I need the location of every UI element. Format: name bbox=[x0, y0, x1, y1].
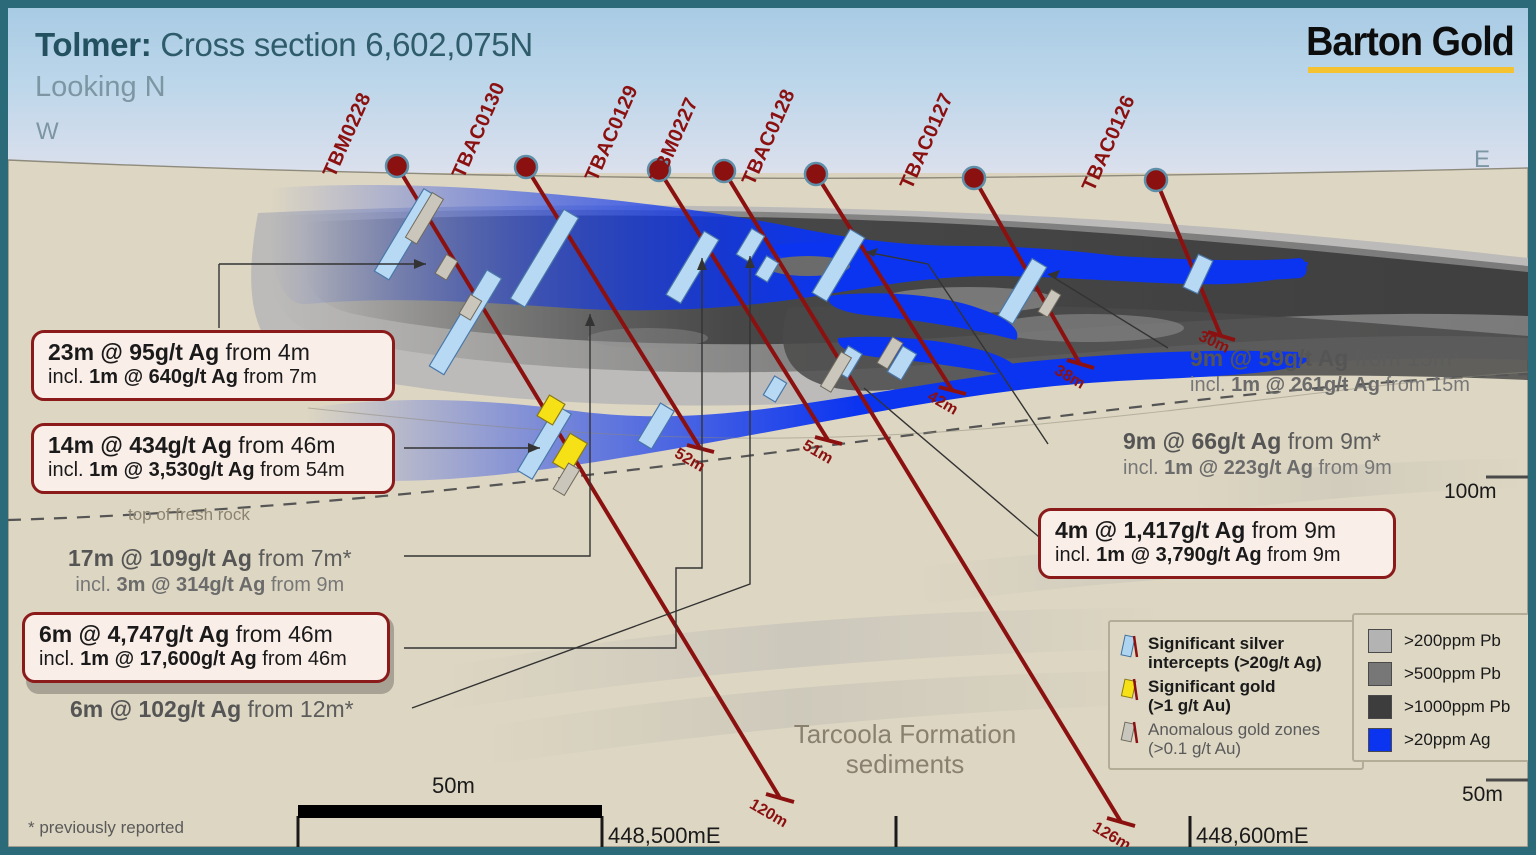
callout-line2: incl. 1m @ 17,600g/t Ag from 46m bbox=[39, 648, 373, 672]
page-title: Tolmer: Cross section 6,602,075N bbox=[35, 26, 533, 64]
brand-text: Barton Gold bbox=[1306, 18, 1514, 65]
callout-6m-102: 6m @ 102g/t Ag from 12m* bbox=[70, 696, 354, 724]
pb-blob-3 bbox=[992, 314, 1184, 342]
depth-label-50m: 50m bbox=[1462, 783, 1503, 807]
callout-14m: 14m @ 434g/t Ag from 46m incl. 1m @ 3,53… bbox=[31, 423, 395, 494]
cross-section-figure: Tolmer: Cross section 6,602,075N Looking… bbox=[0, 0, 1536, 855]
formation-line2: sediments bbox=[775, 750, 1035, 780]
swatch-pb500-icon bbox=[1368, 662, 1392, 686]
callout-4m-1417: 4m @ 1,417g/t Ag from 9m incl. 1m @ 3,79… bbox=[1038, 508, 1396, 579]
callout-line1: 14m @ 434g/t Ag from 46m bbox=[48, 432, 378, 459]
callout-line1: 6m @ 4,747g/t Ag from 46m bbox=[39, 621, 373, 648]
legend-row-pb500: >500ppm Pb bbox=[1368, 662, 1520, 686]
legend-item-anomalous: Anomalous gold zones(>0.1 g/t Au) bbox=[1120, 720, 1352, 758]
callout-line2: incl. 1m @ 3,530g/t Ag from 54m bbox=[48, 459, 378, 483]
legend-intercepts: Significant silverintercepts (>20g/t Ag)… bbox=[1108, 620, 1364, 770]
callout-line2: incl. 3m @ 314g/t Ag from 9m bbox=[68, 573, 352, 597]
coordinate-label-448500: 448,500mE bbox=[608, 823, 721, 847]
silver-intercept-icon bbox=[1120, 634, 1140, 660]
callout-line2: incl. 1m @ 261g/t Ag from 15m bbox=[1190, 373, 1470, 397]
callout-line1: 9m @ 66g/t Ag from 9m* bbox=[1123, 428, 1392, 456]
formation-line1: Tarcoola Formation bbox=[775, 720, 1035, 750]
anomalous-gold-icon bbox=[1120, 720, 1140, 746]
footnote: * previously reported bbox=[28, 818, 184, 838]
compass-east-label: E bbox=[1474, 146, 1490, 174]
callout-line1: 23m @ 95g/t Ag from 4m bbox=[48, 339, 378, 366]
swatch-pb1000-icon bbox=[1368, 695, 1392, 719]
callout-6m-4747: 6m @ 4,747g/t Ag from 46m incl. 1m @ 17,… bbox=[22, 612, 390, 683]
legend-gold-text: Significant gold(>1 g/t Au) bbox=[1148, 677, 1276, 715]
legend-row-pb200: >200ppm Pb bbox=[1368, 629, 1520, 653]
callout-line2: incl. 1m @ 223g/t Ag from 9m bbox=[1123, 456, 1392, 480]
legend-item-gold: Significant gold(>1 g/t Au) bbox=[1120, 677, 1352, 715]
legend-label-pb500: >500ppm Pb bbox=[1404, 664, 1501, 684]
depth-label-100m: 100m bbox=[1444, 480, 1497, 504]
brand-underline bbox=[1308, 67, 1514, 73]
callout-line2: incl. 1m @ 3,790g/t Ag from 9m bbox=[1055, 544, 1379, 568]
callout-line1: 4m @ 1,417g/t Ag from 9m bbox=[1055, 517, 1379, 544]
formation-label: Tarcoola Formation sediments bbox=[775, 720, 1035, 780]
legend-label-ag20: >20ppm Ag bbox=[1404, 730, 1491, 750]
callout-line1: 17m @ 109g/t Ag from 7m* bbox=[68, 545, 352, 573]
top-of-fresh-rock-label: top of fresh rock bbox=[128, 505, 250, 525]
callout-9m-66: 9m @ 66g/t Ag from 9m* incl. 1m @ 223g/t… bbox=[1123, 428, 1392, 480]
legend-silver-text: Significant silverintercepts (>20g/t Ag) bbox=[1148, 634, 1322, 672]
callout-9m-59: 9m @ 59g/t Ag from 15m* incl. 1m @ 261g/… bbox=[1190, 345, 1470, 397]
legend-geochem: >200ppm Pb >500ppm Pb >1000ppm Pb >20ppm… bbox=[1352, 613, 1528, 762]
legend-label-pb200: >200ppm Pb bbox=[1404, 631, 1501, 651]
gold-intercept-icon bbox=[1120, 677, 1140, 703]
brand-logo: Barton Gold bbox=[1288, 18, 1514, 73]
legend-row-pb1000: >1000ppm Pb bbox=[1368, 695, 1520, 719]
compass-west-label: W bbox=[36, 118, 59, 146]
callout-line1: 9m @ 59g/t Ag from 15m* bbox=[1190, 345, 1470, 373]
swatch-pb200-icon bbox=[1368, 629, 1392, 653]
legend-row-ag20: >20ppm Ag bbox=[1368, 728, 1520, 752]
legend-label-pb1000: >1000ppm Pb bbox=[1404, 697, 1510, 717]
callout-23m: 23m @ 95g/t Ag from 4m incl. 1m @ 640g/t… bbox=[31, 330, 395, 401]
figure-canvas: Tolmer: Cross section 6,602,075N Looking… bbox=[8, 8, 1528, 847]
scale-bar bbox=[298, 805, 602, 818]
legend-anomalous-text: Anomalous gold zones(>0.1 g/t Au) bbox=[1148, 720, 1320, 758]
legend-item-silver: Significant silverintercepts (>20g/t Ag) bbox=[1120, 634, 1352, 672]
callout-17m: 17m @ 109g/t Ag from 7m* incl. 3m @ 314g… bbox=[68, 545, 352, 597]
callout-line1: 6m @ 102g/t Ag from 12m* bbox=[70, 696, 354, 724]
coordinate-label-448600: 448,600mE bbox=[1196, 823, 1309, 847]
subtitle: Looking N bbox=[35, 71, 166, 104]
pb-blob-4 bbox=[588, 328, 708, 348]
swatch-ag20-icon bbox=[1368, 728, 1392, 752]
scale-bar-label: 50m bbox=[432, 773, 475, 799]
callout-line2: incl. 1m @ 640g/t Ag from 7m bbox=[48, 366, 378, 390]
